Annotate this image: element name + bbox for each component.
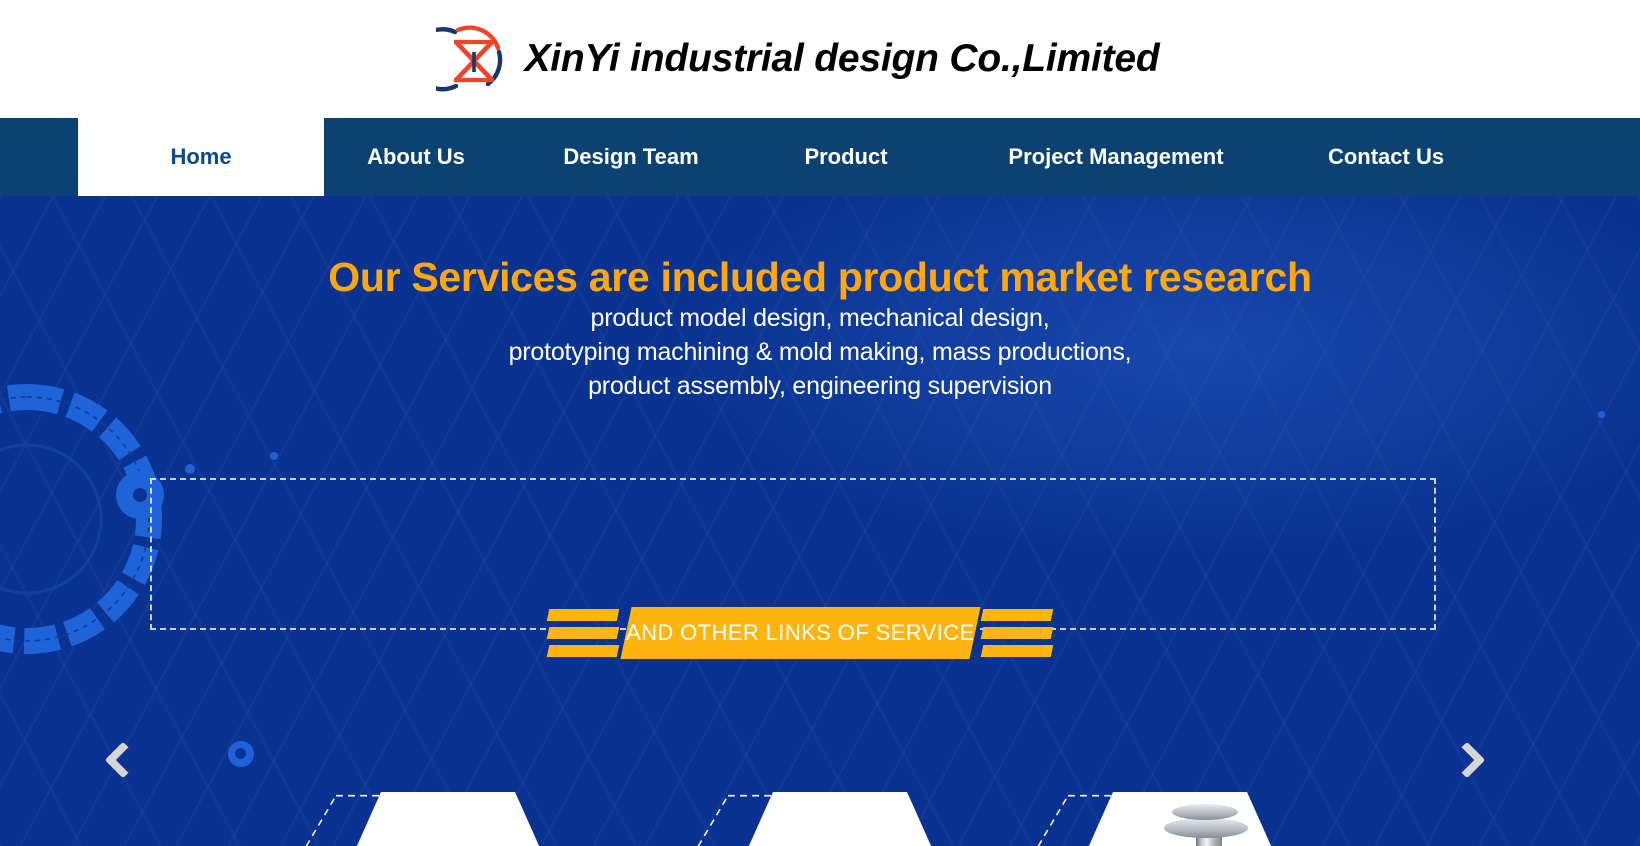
decorative-dot [185,464,195,474]
hero-subline-3: product assembly, engineering supervisio… [0,372,1640,401]
hero-banner: Our Services are included product market… [0,196,1640,846]
product-hexagon[interactable] [1000,756,1272,846]
badge-bar [547,645,619,657]
decorative-dot [1598,411,1605,418]
hero-subline-1: product model design, mechanical design, [0,304,1640,333]
product-hexagon[interactable] [660,756,932,846]
badge-bar [547,609,619,621]
decorative-dot [270,452,278,460]
badge-bars-right [982,607,1052,659]
brand-title: XinYi industrial design Co.,Limited [524,37,1159,81]
badge-bar [547,627,619,639]
xinyi-circle-x-logo-icon [436,22,510,96]
decorative-dot [133,488,147,502]
decorative-gear-ring-icon [0,374,172,664]
hero-headline: Our Services are included product market… [0,254,1640,301]
nav-item-contact-us[interactable]: Contact Us [1294,118,1478,196]
badge-bar [981,609,1053,621]
nav-item-product[interactable]: Product [754,118,938,196]
service-badge: AND OTHER LINKS OF SERVICE [548,607,1052,659]
badge-bars-left [548,607,618,659]
badge-label: AND OTHER LINKS OF SERVICE [626,620,975,646]
product-hexagon-row [0,756,1640,846]
nav-item-about-us[interactable]: About Us [324,118,508,196]
badge-bar [981,645,1053,657]
hero-subline-2: prototyping machining & mold making, mas… [0,338,1640,367]
page-root: XinYi industrial design Co.,Limited Home… [0,0,1640,846]
nav-item-project-management[interactable]: Project Management [938,118,1294,196]
product-hexagon[interactable] [268,756,540,846]
main-navigation: HomeAbout UsDesign TeamProductProject Ma… [0,118,1640,196]
site-header: XinYi industrial design Co.,Limited [0,0,1640,118]
nav-item-home[interactable]: Home [78,118,324,196]
nav-item-design-team[interactable]: Design Team [508,118,754,196]
badge-bar [981,627,1053,639]
badge-label-plate: AND OTHER LINKS OF SERVICE [620,607,980,659]
brand[interactable]: XinYi industrial design Co.,Limited [436,22,1159,96]
